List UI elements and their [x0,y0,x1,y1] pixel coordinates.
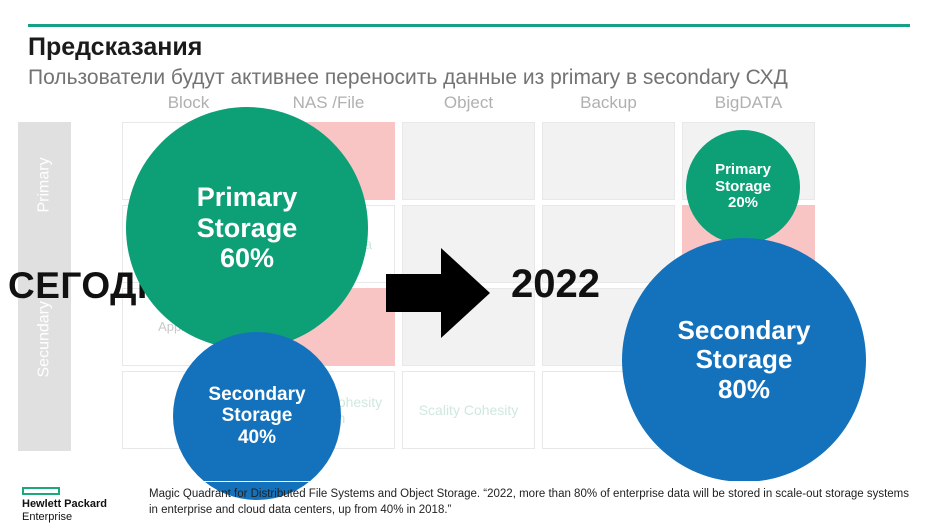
bubble-secondary-2022: Secondary Storage 80% [622,238,866,482]
column-header-3: Backup [542,92,675,114]
bubble-line1: Primary [197,182,298,213]
column-header-1: NAS /File [262,92,395,114]
bubble-line1: Secondary [678,316,811,345]
bubble-line1: Primary [715,162,771,179]
bubble-line2: Storage [222,405,293,426]
bubble-line2: Storage [715,179,771,196]
footer-citation: Magic Quadrant for Distributed File Syst… [149,486,919,519]
hpe-logo-sub: Enterprise [22,511,72,523]
bubble-value: 60% [220,243,274,274]
slide-canvas: Предсказания Пользователи будут активнее… [0,0,937,531]
hpe-mark-icon [22,487,60,495]
footer-divider [140,481,920,482]
column-header-4: BigDATA [682,92,815,114]
bubble-value: 80% [718,375,770,404]
matrix-cell [542,122,675,200]
column-header-2: Object [402,92,535,114]
era-label-2022: 2022 [511,262,600,307]
transition-arrow-icon [386,248,490,338]
page-title: Предсказания [28,33,202,62]
hpe-logo-name: Hewlett Packard [22,498,107,510]
bubble-value: 20% [728,195,758,212]
row-axis-label-secondary: Secundary [36,325,54,378]
matrix-cell: Scality Cohesity [402,371,535,449]
bubble-line1: Secondary [208,384,305,405]
matrix-cell [402,122,535,200]
bubble-line2: Storage [197,213,298,244]
header-divider [28,24,910,27]
row-axis-label-primary: Primary [36,160,54,213]
bubble-primary-2022: Primary Storage 20% [686,130,800,244]
bubble-value: 40% [238,427,276,448]
bubble-primary-today: Primary Storage 60% [126,107,368,349]
hpe-logo: Hewlett Packard Enterprise [22,487,126,525]
bubble-line2: Storage [696,345,793,374]
bubble-secondary-today: Secondary Storage 40% [173,332,341,500]
page-subtitle: Пользователи будут активнее переносить д… [28,66,788,90]
